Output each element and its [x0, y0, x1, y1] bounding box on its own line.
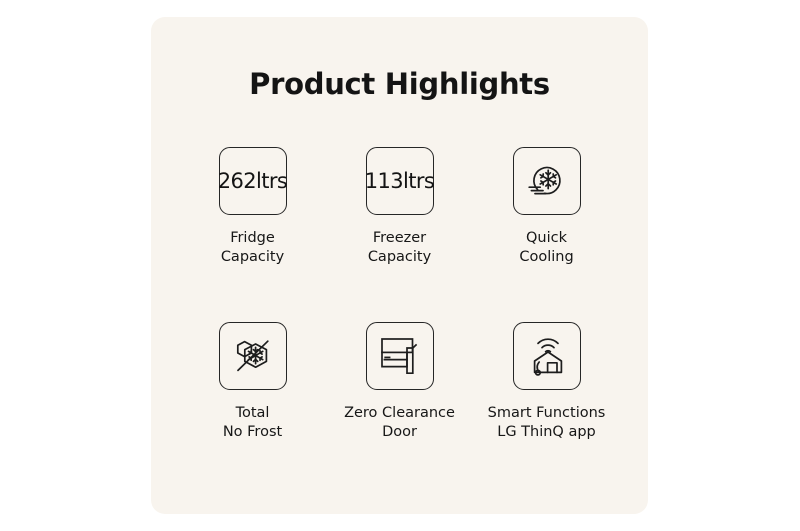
zero-clearance-door-caption: Zero Clearance Door	[344, 404, 455, 442]
caption-line-2: Door	[344, 423, 455, 442]
fridge-capacity-caption: Fridge Capacity	[221, 229, 284, 267]
zero-clearance-door-tile	[366, 322, 434, 390]
features-grid: 262ltrs Fridge Capacity 113ltrs Freezer …	[179, 147, 620, 497]
caption-line-2: LG ThinQ app	[488, 423, 606, 442]
total-no-frost-caption: Total No Frost	[223, 404, 282, 442]
freezer-capacity-caption: Freezer Capacity	[368, 229, 431, 267]
product-highlights-card: Product Highlights 262ltrs Fridge Capaci…	[151, 17, 648, 514]
caption-line-2: Capacity	[368, 248, 431, 267]
caption-line-1: Zero Clearance	[344, 405, 455, 421]
feature-freezer-capacity: 113ltrs Freezer Capacity	[326, 147, 473, 322]
freezer-capacity-tile: 113ltrs	[366, 147, 434, 215]
fridge-capacity-value: 262ltrs	[218, 171, 288, 192]
smart-functions-tile	[513, 322, 581, 390]
smart-functions-caption: Smart Functions LG ThinQ app	[488, 404, 606, 442]
caption-line-1: Fridge	[230, 230, 275, 246]
caption-line-1: Quick	[526, 230, 567, 246]
freezer-capacity-value: 113ltrs	[365, 171, 435, 192]
caption-line-2: Cooling	[519, 248, 573, 267]
total-no-frost-tile	[219, 322, 287, 390]
caption-line-1: Total	[236, 405, 270, 421]
fridge-capacity-tile: 262ltrs	[219, 147, 287, 215]
page-root: Product Highlights 262ltrs Fridge Capaci…	[0, 0, 800, 531]
open-door-fridge-icon	[377, 334, 423, 378]
smart-home-wifi-icon	[524, 333, 570, 379]
snowflake-speed-icon	[524, 158, 570, 204]
feature-quick-cooling: Quick Cooling	[473, 147, 620, 322]
feature-zero-clearance-door: Zero Clearance Door	[326, 322, 473, 497]
quick-cooling-tile	[513, 147, 581, 215]
caption-line-2: Capacity	[221, 248, 284, 267]
caption-line-1: Smart Functions	[488, 405, 606, 421]
quick-cooling-caption: Quick Cooling	[519, 229, 573, 267]
page-title: Product Highlights	[151, 67, 648, 101]
feature-fridge-capacity: 262ltrs Fridge Capacity	[179, 147, 326, 322]
feature-smart-functions: Smart Functions LG ThinQ app	[473, 322, 620, 497]
feature-total-no-frost: Total No Frost	[179, 322, 326, 497]
caption-line-2: No Frost	[223, 423, 282, 442]
caption-line-1: Freezer	[373, 230, 426, 246]
no-frost-icon	[230, 333, 276, 379]
